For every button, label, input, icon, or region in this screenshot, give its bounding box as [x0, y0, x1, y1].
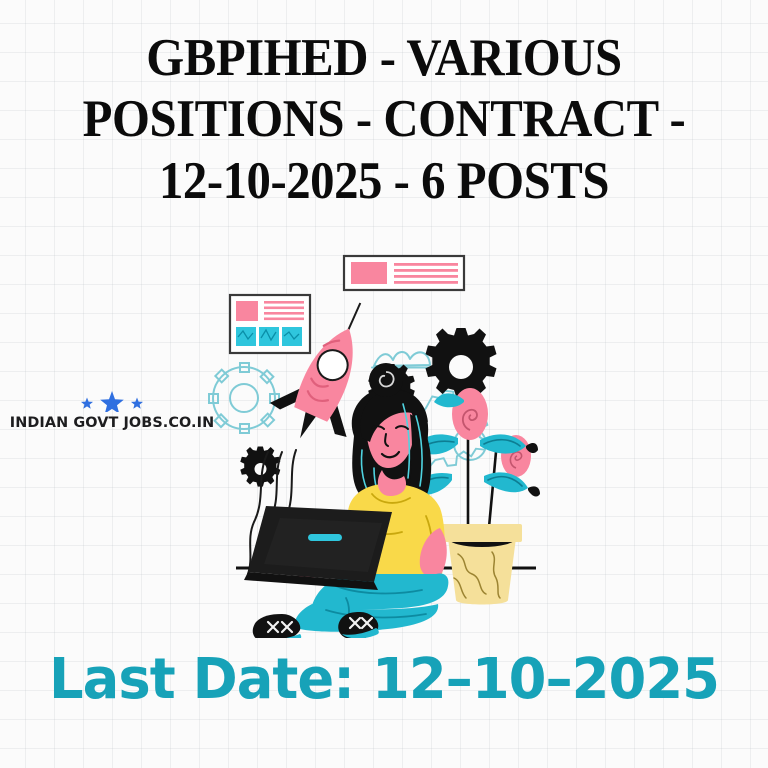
- three-stars-icon: [6, 390, 218, 412]
- last-date-text: Last Date: 12–10–2025: [12, 652, 757, 708]
- ui-card-top: [344, 256, 464, 290]
- page-title: GBPIHED - VARIOUS POSITIONS - CONTRACT -…: [31, 28, 738, 212]
- laptop: [244, 506, 392, 590]
- site-logo-text: INDIAN GOVT JOBS.CO.IN: [6, 415, 218, 431]
- site-logo: INDIAN GOVT JOBS.CO.IN: [6, 390, 218, 431]
- gear-black-large: [426, 328, 497, 398]
- gear-black-tiny: [240, 447, 280, 487]
- hair-bun: [369, 363, 403, 397]
- woman-working-on-laptop-illustration: [196, 238, 596, 638]
- job-poster: GBPIHED - VARIOUS POSITIONS - CONTRACT -…: [0, 0, 768, 768]
- sneaker-left: [253, 614, 301, 638]
- ui-card-left: [230, 295, 310, 353]
- gear-outline-small: [209, 363, 279, 433]
